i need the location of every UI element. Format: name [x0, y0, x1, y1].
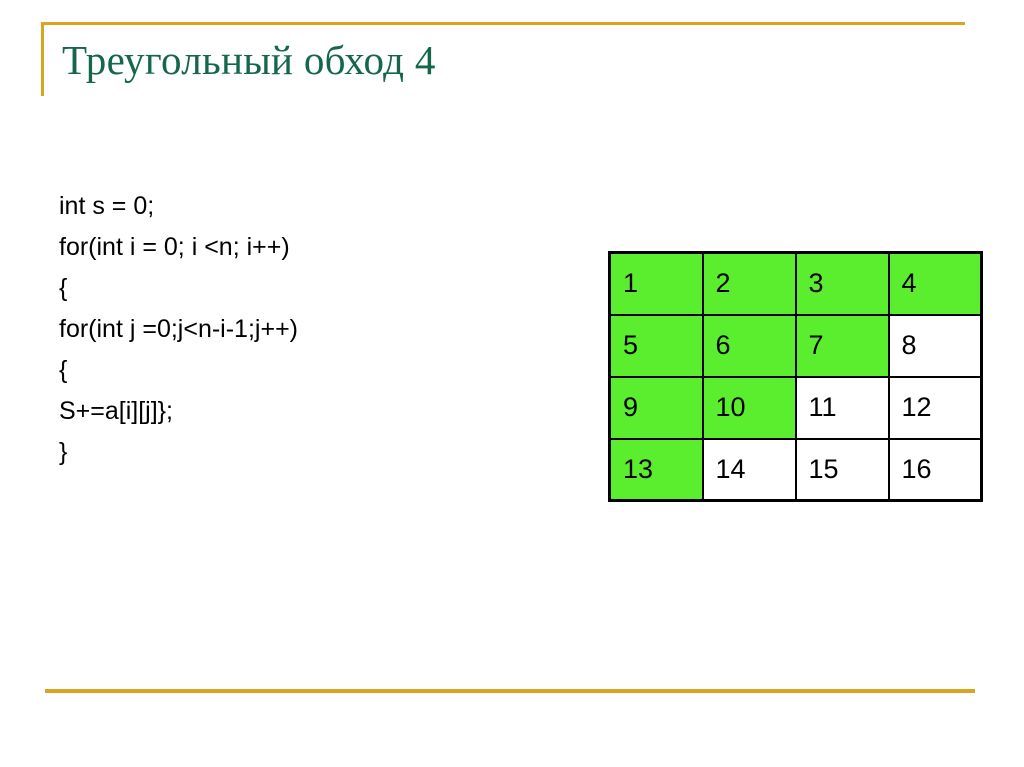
bottom-accent-rule	[45, 689, 975, 693]
grid-cell: 15	[796, 439, 889, 501]
slide-title: Треугольный обход 4	[62, 37, 436, 84]
grid-cell: 12	[889, 377, 982, 439]
slide-canvas: Треугольный обход 4 int s = 0; for(int i…	[0, 0, 1024, 767]
grid-cell: 16	[889, 439, 982, 501]
matrix-grid-wrapper: 1 2 3 4 5 6 7 8 9 10 11 12	[608, 251, 983, 502]
matrix-grid: 1 2 3 4 5 6 7 8 9 10 11 12	[608, 251, 983, 502]
grid-cell: 10	[703, 377, 796, 439]
code-line: }	[59, 432, 529, 473]
code-line: S+=a[i][j]};	[59, 391, 529, 432]
grid-cell: 7	[796, 315, 889, 377]
grid-cell: 6	[703, 315, 796, 377]
table-row: 5 6 7 8	[610, 315, 982, 377]
code-block: int s = 0; for(int i = 0; i <n; i++) { f…	[59, 186, 529, 473]
code-line: {	[59, 350, 529, 391]
table-row: 1 2 3 4	[610, 253, 982, 315]
table-row: 9 10 11 12	[610, 377, 982, 439]
grid-cell: 11	[796, 377, 889, 439]
grid-cell: 1	[610, 253, 703, 315]
left-accent-rule	[41, 22, 44, 96]
grid-cell: 14	[703, 439, 796, 501]
code-line: int s = 0;	[59, 186, 529, 227]
table-row: 13 14 15 16	[610, 439, 982, 501]
grid-cell: 9	[610, 377, 703, 439]
grid-cell: 13	[610, 439, 703, 501]
code-line: for(int i = 0; i <n; i++)	[59, 227, 529, 268]
code-line: for(int j =0;j<n-i-1;j++)	[59, 309, 529, 350]
grid-cell: 2	[703, 253, 796, 315]
grid-cell: 5	[610, 315, 703, 377]
grid-cell: 3	[796, 253, 889, 315]
code-line: {	[59, 268, 529, 309]
top-accent-rule	[41, 22, 965, 25]
grid-cell: 8	[889, 315, 982, 377]
grid-cell: 4	[889, 253, 982, 315]
